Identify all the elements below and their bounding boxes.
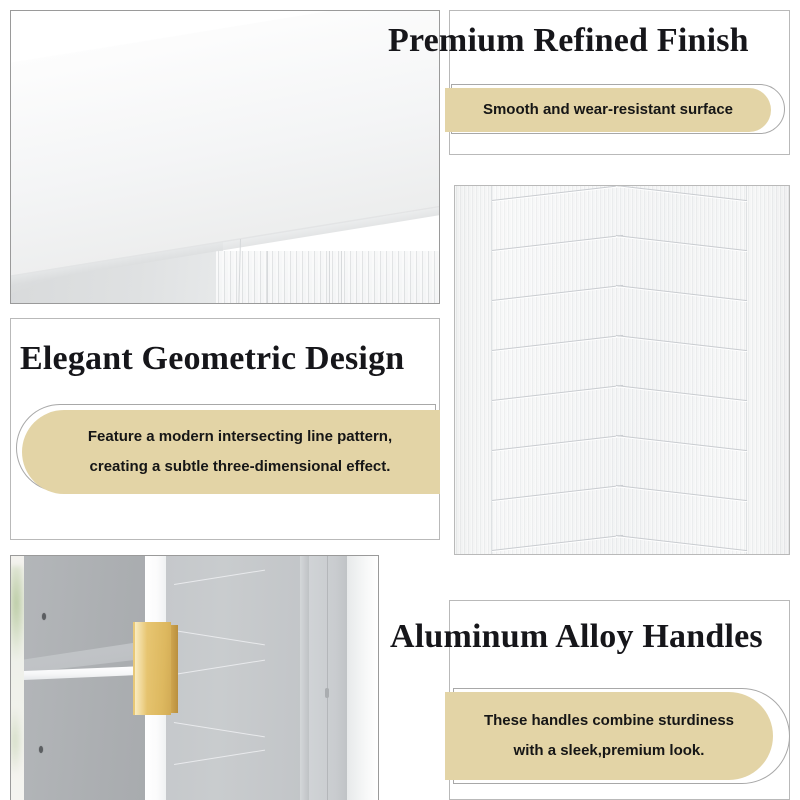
caption-pill-body: Smooth and wear-resistant surface — [445, 88, 771, 132]
caption-line: These handles combine sturdiness — [484, 706, 734, 736]
caption-pill-alloy-handles: These handles combine sturdiness with a … — [445, 688, 790, 784]
tabletop-surface — [11, 11, 439, 276]
infographic-canvas: Premium Refined Finish Elegant Geometric… — [0, 0, 800, 800]
cabinet-side-bumper — [325, 688, 329, 698]
apron-seam-1 — [267, 251, 268, 303]
gold-alloy-handle — [133, 622, 178, 715]
door-stile-right — [746, 186, 747, 554]
cabinet-door-front — [166, 556, 302, 800]
caption-pill-geometric-design: Feature a modern intersecting line patte… — [16, 404, 440, 496]
handle-side — [171, 625, 178, 713]
door-vertical-woodgrain — [455, 186, 789, 554]
caption-pill-body: Feature a modern intersecting line patte… — [22, 410, 440, 494]
apron-seam-2 — [329, 251, 330, 303]
cabinet-side-seam — [327, 556, 328, 800]
chevron-textured-door-photo — [455, 186, 789, 554]
caption-line: Smooth and wear-resistant surface — [483, 95, 733, 125]
caption-pill-body: These handles combine sturdiness with a … — [445, 692, 773, 780]
photo-right-fade — [347, 556, 378, 800]
handle-highlight — [135, 622, 147, 715]
headline-geometric-design: Elegant Geometric Design — [20, 340, 404, 378]
caption-line: creating a subtle three-dimensional effe… — [72, 452, 391, 482]
cabinet-side-panel — [309, 556, 347, 800]
door-stile-left — [491, 186, 492, 554]
shelf-peg-hole-upper — [42, 613, 46, 620]
headline-premium-finish: Premium Refined Finish — [388, 22, 749, 60]
gold-handle-cabinet-photo — [11, 556, 378, 800]
caption-line: with a sleek,premium look. — [514, 736, 705, 766]
caption-line: Feature a modern intersecting line patte… — [70, 422, 392, 452]
caption-pill-premium-finish: Smooth and wear-resistant surface — [445, 84, 785, 134]
plant-blur-lower-icon — [11, 706, 23, 776]
white-tabletop-corner-photo — [11, 11, 439, 303]
apron-seam-3 — [341, 251, 342, 303]
headline-alloy-handles: Aluminum Alloy Handles — [390, 618, 763, 656]
table-apron-woodgrain — [216, 251, 439, 303]
shelf-peg-hole-lower — [39, 746, 43, 753]
